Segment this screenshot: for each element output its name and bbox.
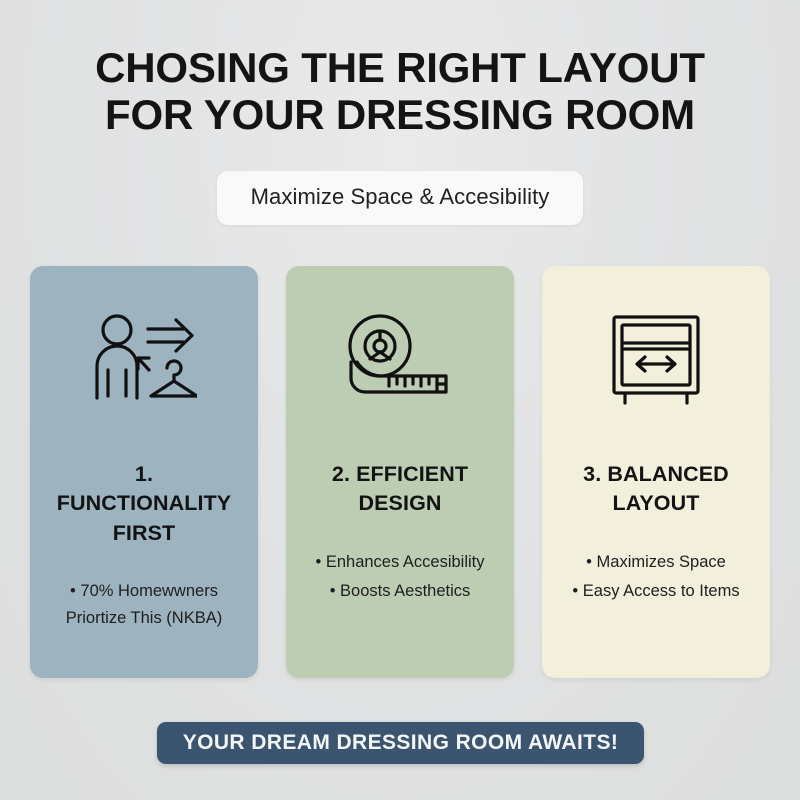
card-functionality-first: 1. FUNCTIONALITY FIRST • 70% Homewwners … xyxy=(30,266,258,678)
list-item: • Enhances Accesibility xyxy=(315,549,484,575)
card-title: 3. BALANCED LAYOUT xyxy=(561,460,751,519)
card-title: 1. FUNCTIONALITY FIRST xyxy=(49,460,239,549)
list-item: • Easy Access to Items xyxy=(572,578,739,604)
list-item: • Maximizes Space xyxy=(586,549,726,575)
card-bullets: • 70% Homewwners Priortize This (NKBA) xyxy=(44,578,244,630)
subtitle-text: Maximize Space & Accesibility xyxy=(251,184,550,209)
list-item: • 70% Homewwners Priortize This (NKBA) xyxy=(46,578,242,630)
subtitle-pill: Maximize Space & Accesibility xyxy=(217,171,584,225)
card-balanced-layout: 3. BALANCED LAYOUT • Maximizes Space • E… xyxy=(542,266,770,678)
cards-row: 1. FUNCTIONALITY FIRST • 70% Homewwners … xyxy=(30,266,770,678)
person-arrow-hanger-icon xyxy=(91,308,197,408)
footer-cta-text: YOUR DREAM DRESSING ROOM AWAITS! xyxy=(183,731,619,755)
list-item: • Boosts Aesthetics xyxy=(330,578,471,604)
card-efficient-design: 2. EFFICIENT DESIGN • Enhances Accesibil… xyxy=(286,266,514,678)
cabinet-width-arrow-icon xyxy=(608,308,704,408)
page-title: CHOSING THE RIGHT LAYOUT FOR YOUR DRESSI… xyxy=(95,46,705,137)
card-bullets: • Enhances Accesibility • Boosts Aesthet… xyxy=(300,549,500,604)
footer-cta-banner: YOUR DREAM DRESSING ROOM AWAITS! xyxy=(157,722,644,764)
card-title: 2. EFFICIENT DESIGN xyxy=(305,460,495,519)
page-title-line-2: FOR YOUR DRESSING ROOM xyxy=(95,93,705,136)
measuring-tape-icon xyxy=(345,308,455,408)
infographic-poster: CHOSING THE RIGHT LAYOUT FOR YOUR DRESSI… xyxy=(0,0,800,800)
page-title-line-1: CHOSING THE RIGHT LAYOUT xyxy=(95,46,705,89)
card-bullets: • Maximizes Space • Easy Access to Items xyxy=(556,549,756,604)
